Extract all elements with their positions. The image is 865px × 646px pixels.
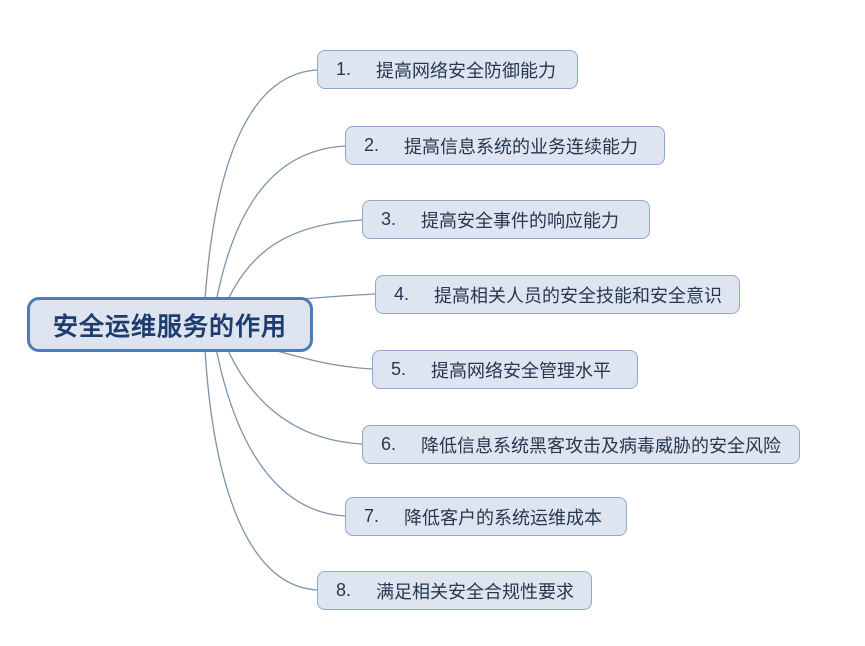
branch-node-3[interactable]: 3. 提高安全事件的响应能力	[362, 200, 650, 239]
connector-line-2	[216, 146, 345, 302]
branch-node-4[interactable]: 4. 提高相关人员的安全技能和安全意识	[375, 275, 740, 314]
connector-line-1	[205, 70, 317, 300]
branch-label-1: 提高网络安全防御能力	[376, 57, 574, 83]
branch-label-3: 提高安全事件的响应能力	[421, 207, 637, 233]
branch-node-5[interactable]: 5. 提高网络安全管理水平	[372, 350, 638, 389]
branch-label-4: 提高相关人员的安全技能和安全意识	[434, 282, 740, 308]
branch-number-5: 5.	[373, 359, 431, 380]
branch-number-8: 8.	[318, 580, 376, 601]
branch-number-7: 7.	[346, 506, 404, 527]
connector-line-6	[226, 346, 362, 444]
branch-label-7: 降低客户的系统运维成本	[404, 504, 620, 530]
branch-node-8[interactable]: 8. 满足相关安全合规性要求	[317, 571, 592, 610]
branch-node-6[interactable]: 6. 降低信息系统黑客攻击及病毒威胁的安全风险	[362, 425, 800, 464]
branch-node-1[interactable]: 1. 提高网络安全防御能力	[317, 50, 578, 89]
root-node-label: 安全运维服务的作用	[53, 307, 287, 343]
branch-label-6: 降低信息系统黑客攻击及病毒威胁的安全风险	[421, 432, 799, 458]
branch-number-3: 3.	[363, 209, 421, 230]
branch-node-7[interactable]: 7. 降低客户的系统运维成本	[345, 497, 627, 536]
connector-line-7	[216, 348, 345, 516]
branch-label-2: 提高信息系统的业务连续能力	[404, 133, 656, 159]
mindmap-canvas: 安全运维服务的作用 1. 提高网络安全防御能力 2. 提高信息系统的业务连续能力…	[0, 0, 865, 646]
connector-line-8	[205, 350, 317, 590]
branch-number-4: 4.	[376, 284, 434, 305]
root-node[interactable]: 安全运维服务的作用	[27, 297, 313, 352]
branch-number-1: 1.	[318, 59, 376, 80]
branch-node-2[interactable]: 2. 提高信息系统的业务连续能力	[345, 126, 665, 165]
branch-number-2: 2.	[346, 135, 404, 156]
branch-number-6: 6.	[363, 434, 421, 455]
branch-label-8: 满足相关安全合规性要求	[376, 578, 592, 604]
branch-label-5: 提高网络安全管理水平	[431, 357, 629, 383]
connector-line-3	[226, 220, 362, 304]
